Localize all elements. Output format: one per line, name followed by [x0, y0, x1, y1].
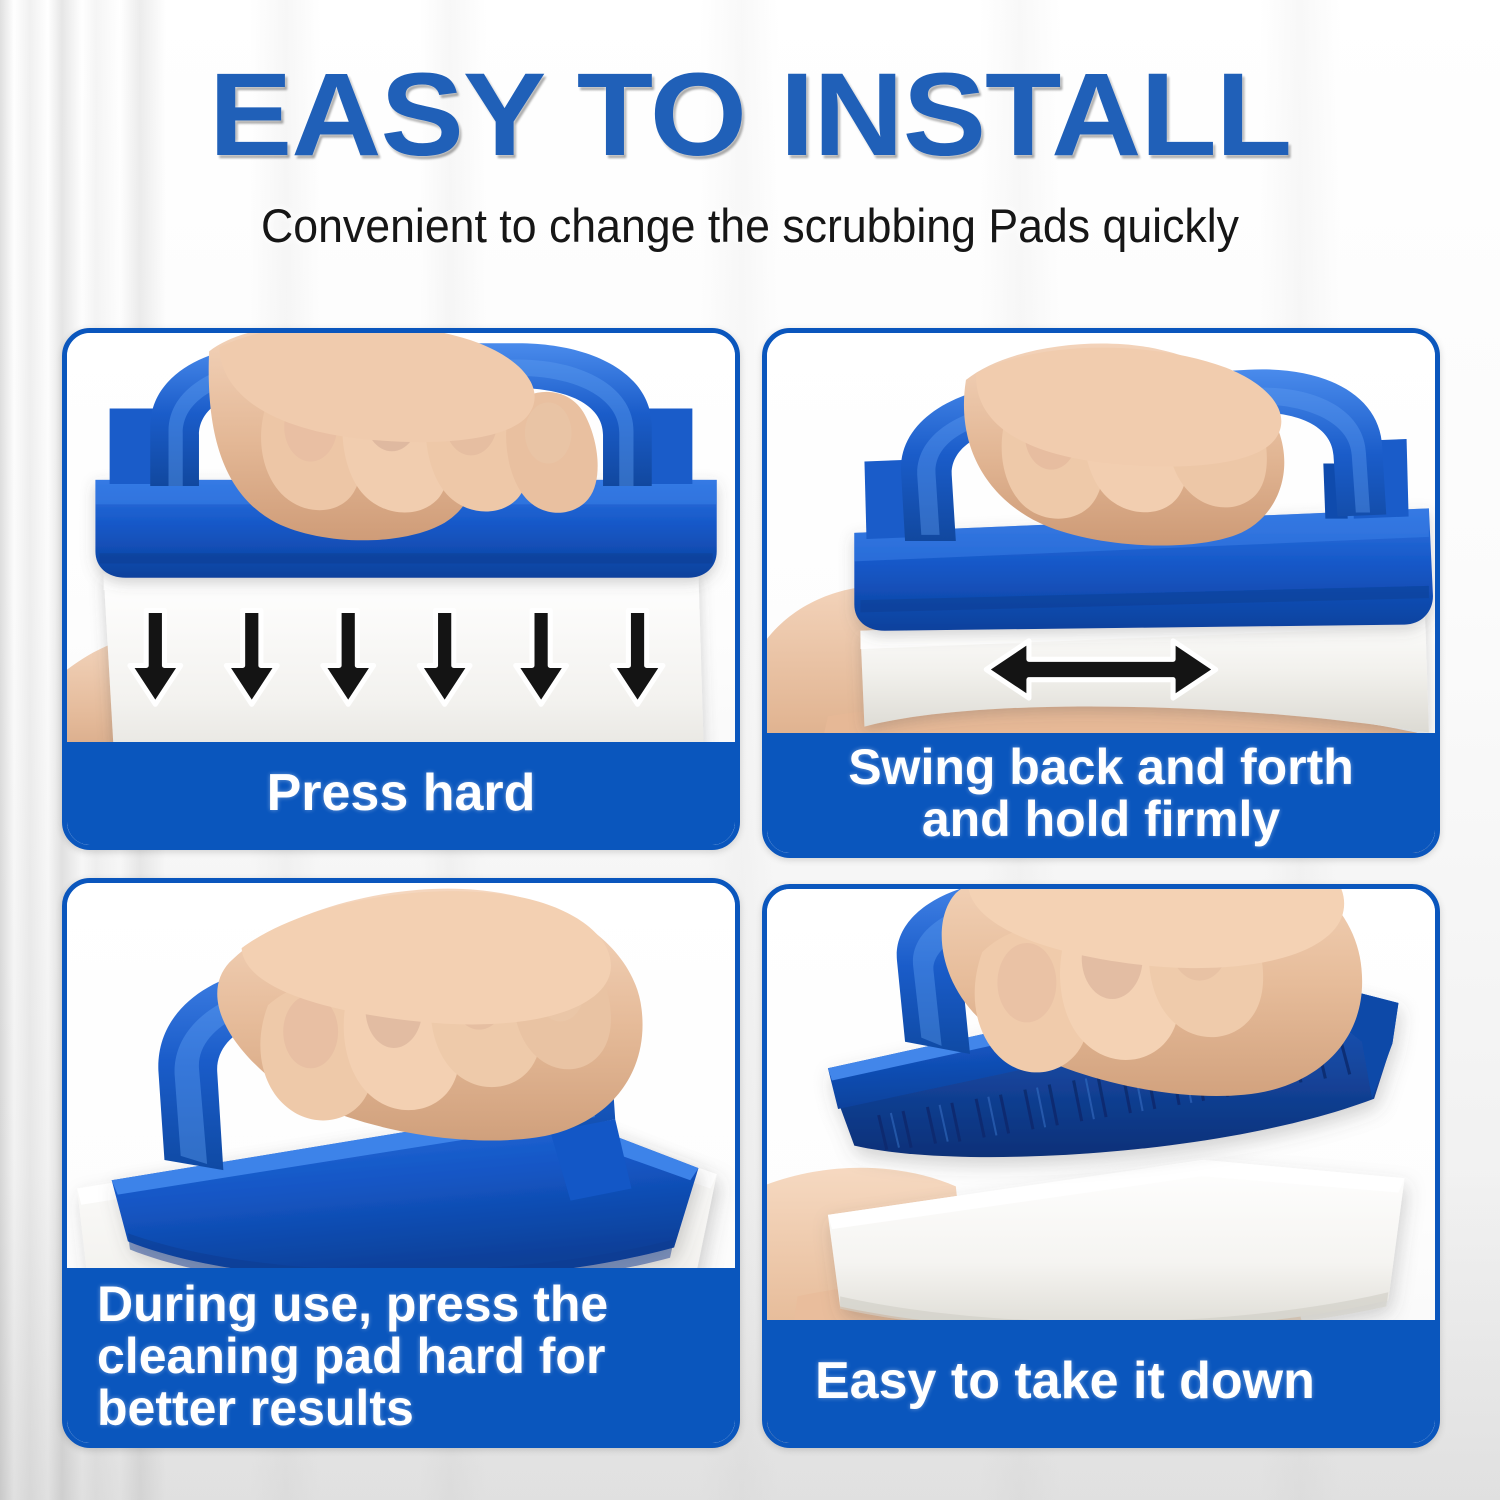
caption-during-use-press: During use, press the cleaning pad hard …: [67, 1268, 735, 1443]
page-title: EASY TO INSTALL: [0, 56, 1500, 174]
panel-easy-to-take-it-down[interactable]: Easy to take it down: [762, 884, 1440, 1448]
caption-line: Press hard: [267, 766, 536, 820]
header: EASY TO INSTALL Convenient to change the…: [0, 0, 1500, 249]
panel-swing-back-and-forth[interactable]: Swing back and forth and hold firmly: [762, 328, 1440, 858]
caption-swing-back-and-forth: Swing back and forth and hold firmly: [767, 733, 1435, 853]
caption-line: cleaning pad hard for: [97, 1330, 605, 1382]
caption-line: During use, press the: [97, 1278, 608, 1330]
caption-easy-to-take-it-down: Easy to take it down: [767, 1320, 1435, 1443]
page-subtitle: Convenient to change the scrubbing Pads …: [38, 202, 1463, 249]
panel-during-use-press[interactable]: During use, press the cleaning pad hard …: [62, 878, 740, 1448]
caption-line: and hold firmly: [922, 793, 1280, 845]
caption-line: Swing back and forth: [848, 741, 1354, 793]
caption-press-hard: Press hard: [67, 742, 735, 845]
panel-press-hard[interactable]: Press hard: [62, 328, 740, 850]
caption-line: Easy to take it down: [815, 1354, 1315, 1408]
caption-line: better results: [97, 1382, 414, 1434]
